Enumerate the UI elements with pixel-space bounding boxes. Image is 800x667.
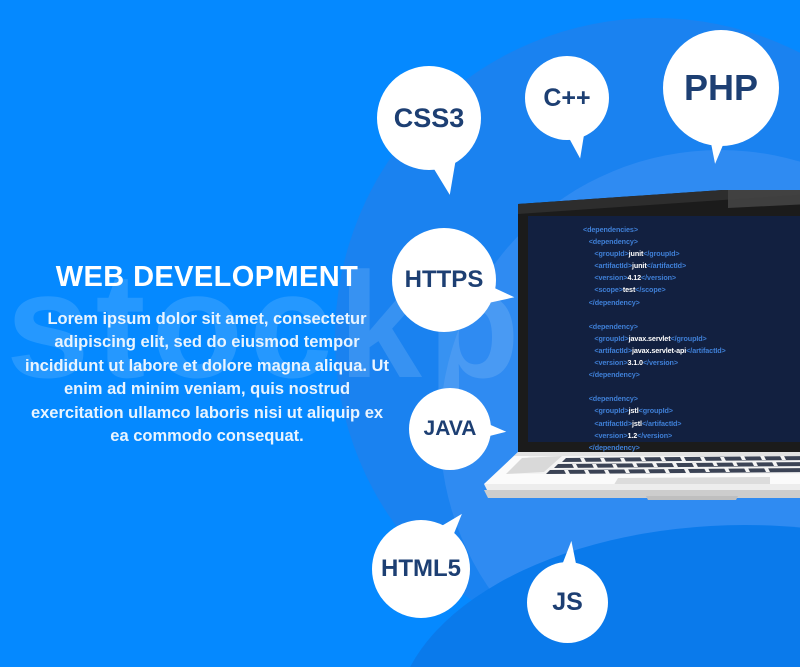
web-development-illustration: stockpack WEB DEVELOPMENT Lorem ipsum do… [0,0,800,667]
code-tag: </artifactId> [686,346,725,355]
code-tag: <artifactId> [594,261,632,270]
code-value: test [623,285,635,294]
code-tag: <dependencies> [583,225,638,234]
code-line: <groupId>javax.servlet</groupId> [583,333,798,345]
code-value: junit [629,249,644,258]
code-tag: <version> [594,273,627,282]
code-line [583,381,798,393]
code-line: </dependency> [583,442,798,454]
code-value: junit [632,261,647,270]
code-indent [583,419,594,428]
bubble-cpp[interactable]: C++ [525,56,609,140]
code-indent [583,346,594,355]
code-line: <groupId>junit</groupId> [583,248,798,260]
code-tag: </groupId> [671,334,707,343]
code-tag: </artifactId> [647,261,686,270]
bubble-html5[interactable]: HTML5 [372,520,470,618]
bubble-label: PHP [684,67,758,109]
code-tag: </version> [643,358,678,367]
code-value: 1.2 [627,431,637,440]
code-indent [583,334,594,343]
code-line: <version>4.12</version> [583,272,798,284]
code-value: jstl [629,406,639,415]
code-indent [583,261,594,270]
bubble-label: JAVA [424,417,477,441]
code-tag: <groupId> [594,249,628,258]
copy-block: WEB DEVELOPMENT Lorem ipsum dolor sit am… [22,262,392,448]
code-line: <dependency> [583,236,798,248]
code-indent [583,431,594,440]
bubble-java[interactable]: JAVA [409,388,491,470]
code-value: javax.servlet-api [632,346,686,355]
code-tag: <artifactId> [594,419,632,428]
code-line: </dependency> [583,369,798,381]
code-line: <artifactId>javax.servlet-api</artifactI… [583,345,798,357]
code-tag: <groupId> [639,406,673,415]
code-tag: <version> [594,358,627,367]
code-tag: </version> [641,273,676,282]
code-tag: </dependency> [589,443,640,452]
code-editor-content: <dependencies> <dependency> <groupId>jun… [583,224,798,454]
code-tag: <dependency> [589,394,638,403]
code-indent [583,310,585,319]
code-tag: </version> [637,431,672,440]
code-tag: <groupId> [594,334,628,343]
code-indent [583,249,594,258]
code-tag: </dependency> [589,370,640,379]
code-line: <scope>test</scope> [583,284,798,296]
page-title: WEB DEVELOPMENT [22,262,392,294]
code-line: <dependencies> [583,224,798,236]
code-value: javax.servlet [629,334,671,343]
code-tag: <scope> [594,285,622,294]
code-tag: </scope> [635,285,665,294]
code-value: jstl [632,419,642,428]
code-tag: </groupId> [643,249,679,258]
bubble-tail-icon [706,127,730,164]
bubble-label: HTML5 [381,555,461,583]
code-tag: <version> [594,431,627,440]
code-indent [583,285,594,294]
body-paragraph: Lorem ipsum dolor sit amet, consectetur … [22,308,392,449]
code-line: <dependency> [583,321,798,333]
bubble-label: HTTPS [405,266,484,294]
bubble-js[interactable]: JS [527,562,608,643]
code-line: <artifactId>jstl</artifactId> [583,418,798,430]
bubble-label: CSS3 [394,103,465,134]
code-indent [583,406,594,415]
code-line: </dependency> [583,297,798,309]
bubble-tail-icon [559,540,584,576]
code-tag: <artifactId> [594,346,632,355]
code-tag: <groupId> [594,406,628,415]
bubble-label: C++ [543,84,590,113]
code-line: <version>3.1.0</version> [583,357,798,369]
code-line: <groupId>jstl<groupId> [583,405,798,417]
code-line: <artifactId>junit</artifactId> [583,260,798,272]
code-indent [583,382,585,391]
code-tag: </dependency> [589,298,640,307]
code-tag: <dependency> [589,322,638,331]
code-tag: </artifactId> [642,419,681,428]
bubble-label: JS [552,588,583,617]
code-line [583,309,798,321]
code-tag: <dependency> [589,237,638,246]
code-value: 4.12 [627,273,641,282]
bubble-https[interactable]: HTTPS [392,228,496,332]
code-value: 3.1.0 [627,358,643,367]
bubble-php[interactable]: PHP [663,30,779,146]
code-indent [583,273,594,282]
code-indent [583,358,594,367]
code-line: <dependency> [583,393,798,405]
code-line: <version>1.2</version> [583,430,798,442]
bubble-css3[interactable]: CSS3 [377,66,481,170]
